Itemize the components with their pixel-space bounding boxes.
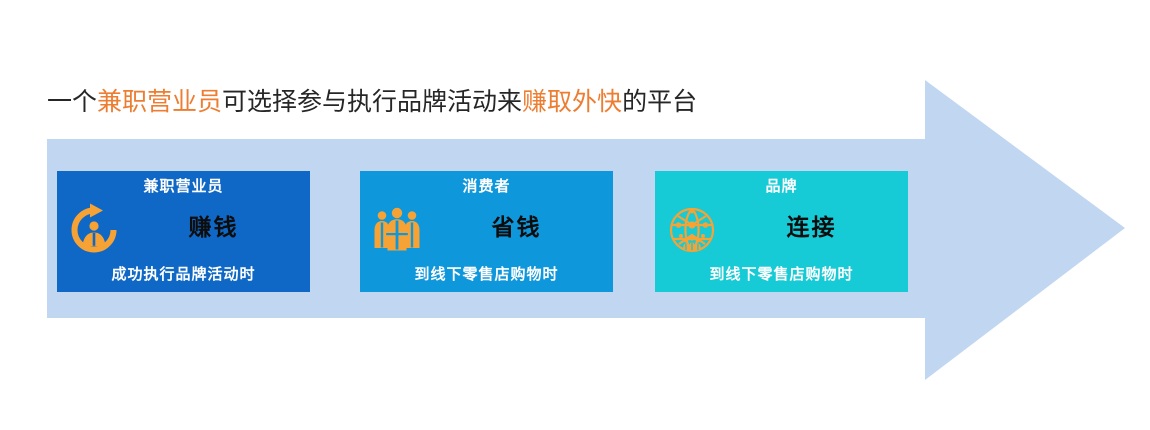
card-action-label: 连接 [715,213,908,243]
card-action-label: 赚钱 [117,213,310,243]
person-circular-arrow-icon [67,203,121,257]
card-role-label: 品牌 [655,177,908,197]
page-title: 一个兼职营业员可选择参与执行品牌活动来赚取外快的平台 [47,86,747,120]
title-segment-1: 一个 [47,89,97,116]
title-segment-3: 可选择参与执行品牌活动来 [222,89,522,116]
group-of-people-icon [370,203,424,257]
benefit-cards-row: 兼职营业员 赚钱 成功执行品牌活动时 消费者 [57,171,917,292]
title-segment-5: 的平台 [622,89,697,116]
card-consumer[interactable]: 消费者 省钱 到线下零售店 [360,171,613,292]
card-action-label: 省钱 [420,213,613,243]
globe-network-icon [665,203,719,257]
card-condition-label: 到线下零售店购物时 [655,265,908,286]
card-brand[interactable]: 品牌 [655,171,908,292]
card-condition-label: 到线下零售店购物时 [360,265,613,286]
card-role-label: 兼职营业员 [57,177,310,197]
card-part-time-clerk[interactable]: 兼职营业员 赚钱 成功执行品牌活动时 [57,171,310,292]
card-condition-label: 成功执行品牌活动时 [57,265,310,286]
title-segment-4-accent: 赚取外快 [522,89,622,116]
slide-canvas: 一个兼职营业员可选择参与执行品牌活动来赚取外快的平台 兼职营业员 赚钱 成功执行… [0,0,1150,430]
title-segment-2-accent: 兼职营业员 [97,89,222,116]
card-role-label: 消费者 [360,177,613,197]
